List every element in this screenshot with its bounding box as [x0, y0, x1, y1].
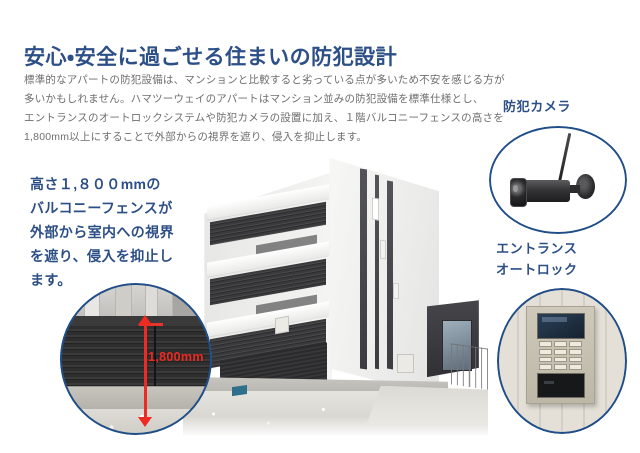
- lead-line-1: 標準的なアパートの防犯設備は、マンションと比較すると劣っている点が多いため不安を…: [24, 71, 486, 90]
- arrow-head-up-icon: [138, 315, 152, 325]
- fence-scene: 1,800mm: [60, 283, 212, 435]
- fence-concrete-base: [60, 386, 212, 410]
- fence-caption-line-2: バルコニーフェンスが: [30, 196, 174, 220]
- facade-window-3: [393, 283, 399, 300]
- fence-caption-line-4: を遮り、侵入を抑止し: [30, 244, 174, 268]
- outdoor-unit: [397, 354, 414, 373]
- lock-scene: [497, 288, 627, 434]
- entrance-walkway: [366, 386, 488, 426]
- security-camera-photo: [489, 126, 627, 234]
- fence-top-rail: [60, 316, 212, 325]
- intercom-keypad: [539, 341, 582, 370]
- entrance-autolock-photo: [497, 288, 627, 434]
- page-title: 安心・安全に過ごせる住まいの防犯設計: [24, 45, 397, 70]
- height-measure-arrow: [144, 324, 147, 418]
- facade-accent-stripe-3: [387, 180, 393, 369]
- keypad-key: [554, 341, 567, 347]
- security-camera-label: 防犯カメラ: [503, 96, 571, 117]
- lead-line-4: 1,800mm以上にすることで外部からの視界を遮り、侵入を抑止します。: [24, 128, 486, 147]
- security-camera-label-text: 防犯カメラ: [503, 96, 571, 117]
- keypad-key: [539, 357, 552, 363]
- fence-caption-line-1: 高さ１,８００mmの: [30, 172, 174, 196]
- intercom-panel: [526, 306, 596, 404]
- keypad-key: [539, 364, 552, 370]
- arrow-head-down-icon: [138, 417, 152, 427]
- site-railing: [451, 343, 488, 389]
- air-conditioner-unit: [275, 316, 289, 335]
- slide-page: 安心・安全に過ごせる住まいの防犯設計 標準的なアパートの防犯設備は、マンションと…: [0, 0, 640, 453]
- fence-caption: 高さ１,８００mmの バルコニーフェンスが 外部から室内への視界 を遮り、侵入を…: [30, 172, 174, 292]
- keypad-key: [569, 341, 582, 347]
- keypad-key: [554, 349, 567, 355]
- keypad-key: [569, 357, 582, 363]
- intercom-display: [537, 313, 585, 339]
- entrance-autolock-label-line-2: オートロック: [496, 259, 578, 280]
- entrance-autolock-label: エントランス オートロック: [496, 238, 578, 280]
- lead-line-2: 多いかもしれません。ハマツーウェイのアパートはマンション並みの防犯設備を標準仕様…: [24, 90, 486, 109]
- card-reader-slot: [537, 373, 585, 398]
- camera-lens: [510, 178, 527, 207]
- facade-accent-stripe-1: [360, 169, 367, 370]
- keypad-key: [569, 349, 582, 355]
- keypad-key: [539, 349, 552, 355]
- camera-photo-inner: [489, 126, 627, 234]
- lock-photo-inner: [497, 288, 627, 434]
- keypad-key: [539, 341, 552, 347]
- entrance-autolock-label-line-1: エントランス: [496, 238, 578, 259]
- apartment-building-photo: [183, 152, 488, 437]
- camera-scene: [489, 126, 627, 234]
- fence-caption-line-3: 外部から室内への視界: [30, 220, 174, 244]
- keypad-key: [554, 364, 567, 370]
- keypad-key: [554, 357, 567, 363]
- fence-closeup-photo: 1,800mm: [60, 283, 212, 435]
- fence-photo-inner: 1,800mm: [60, 283, 212, 435]
- lead-line-3: エントランスのオートロックシステムや防犯カメラの設置に加え、１階バルコニーフェン…: [24, 109, 486, 128]
- facade-window-2: [380, 240, 386, 260]
- keypad-key: [569, 364, 582, 370]
- height-measure-label: 1,800mm: [148, 350, 204, 364]
- building-right-facade: [329, 158, 439, 397]
- fence-gravel-ground: [60, 409, 212, 435]
- utility-box: [232, 385, 247, 396]
- lead-paragraph: 標準的なアパートの防犯設備は、マンションと比較すると劣っている点が多いため不安を…: [24, 71, 486, 147]
- camera-antenna: [558, 133, 571, 182]
- facade-window-1: [372, 197, 379, 220]
